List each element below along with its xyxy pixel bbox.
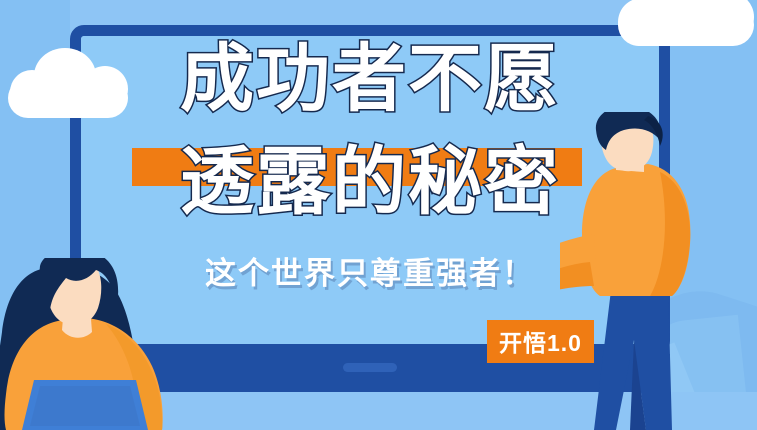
seated-woman-illustration — [0, 258, 201, 430]
cloud-icon — [618, 0, 754, 46]
monitor-indicator — [343, 363, 397, 372]
laptop-screen — [30, 386, 140, 426]
standing-man-illustration — [560, 112, 720, 430]
headline-line-1: 成功者不愿 — [70, 42, 670, 116]
cloud-puff — [618, 0, 666, 46]
poster-canvas: 成功者不愿 透露的秘密 这个世界只尊重强者！ 开悟1.0 — [0, 0, 757, 430]
cloud-puff — [10, 70, 54, 114]
man-arm-lower — [560, 262, 594, 298]
